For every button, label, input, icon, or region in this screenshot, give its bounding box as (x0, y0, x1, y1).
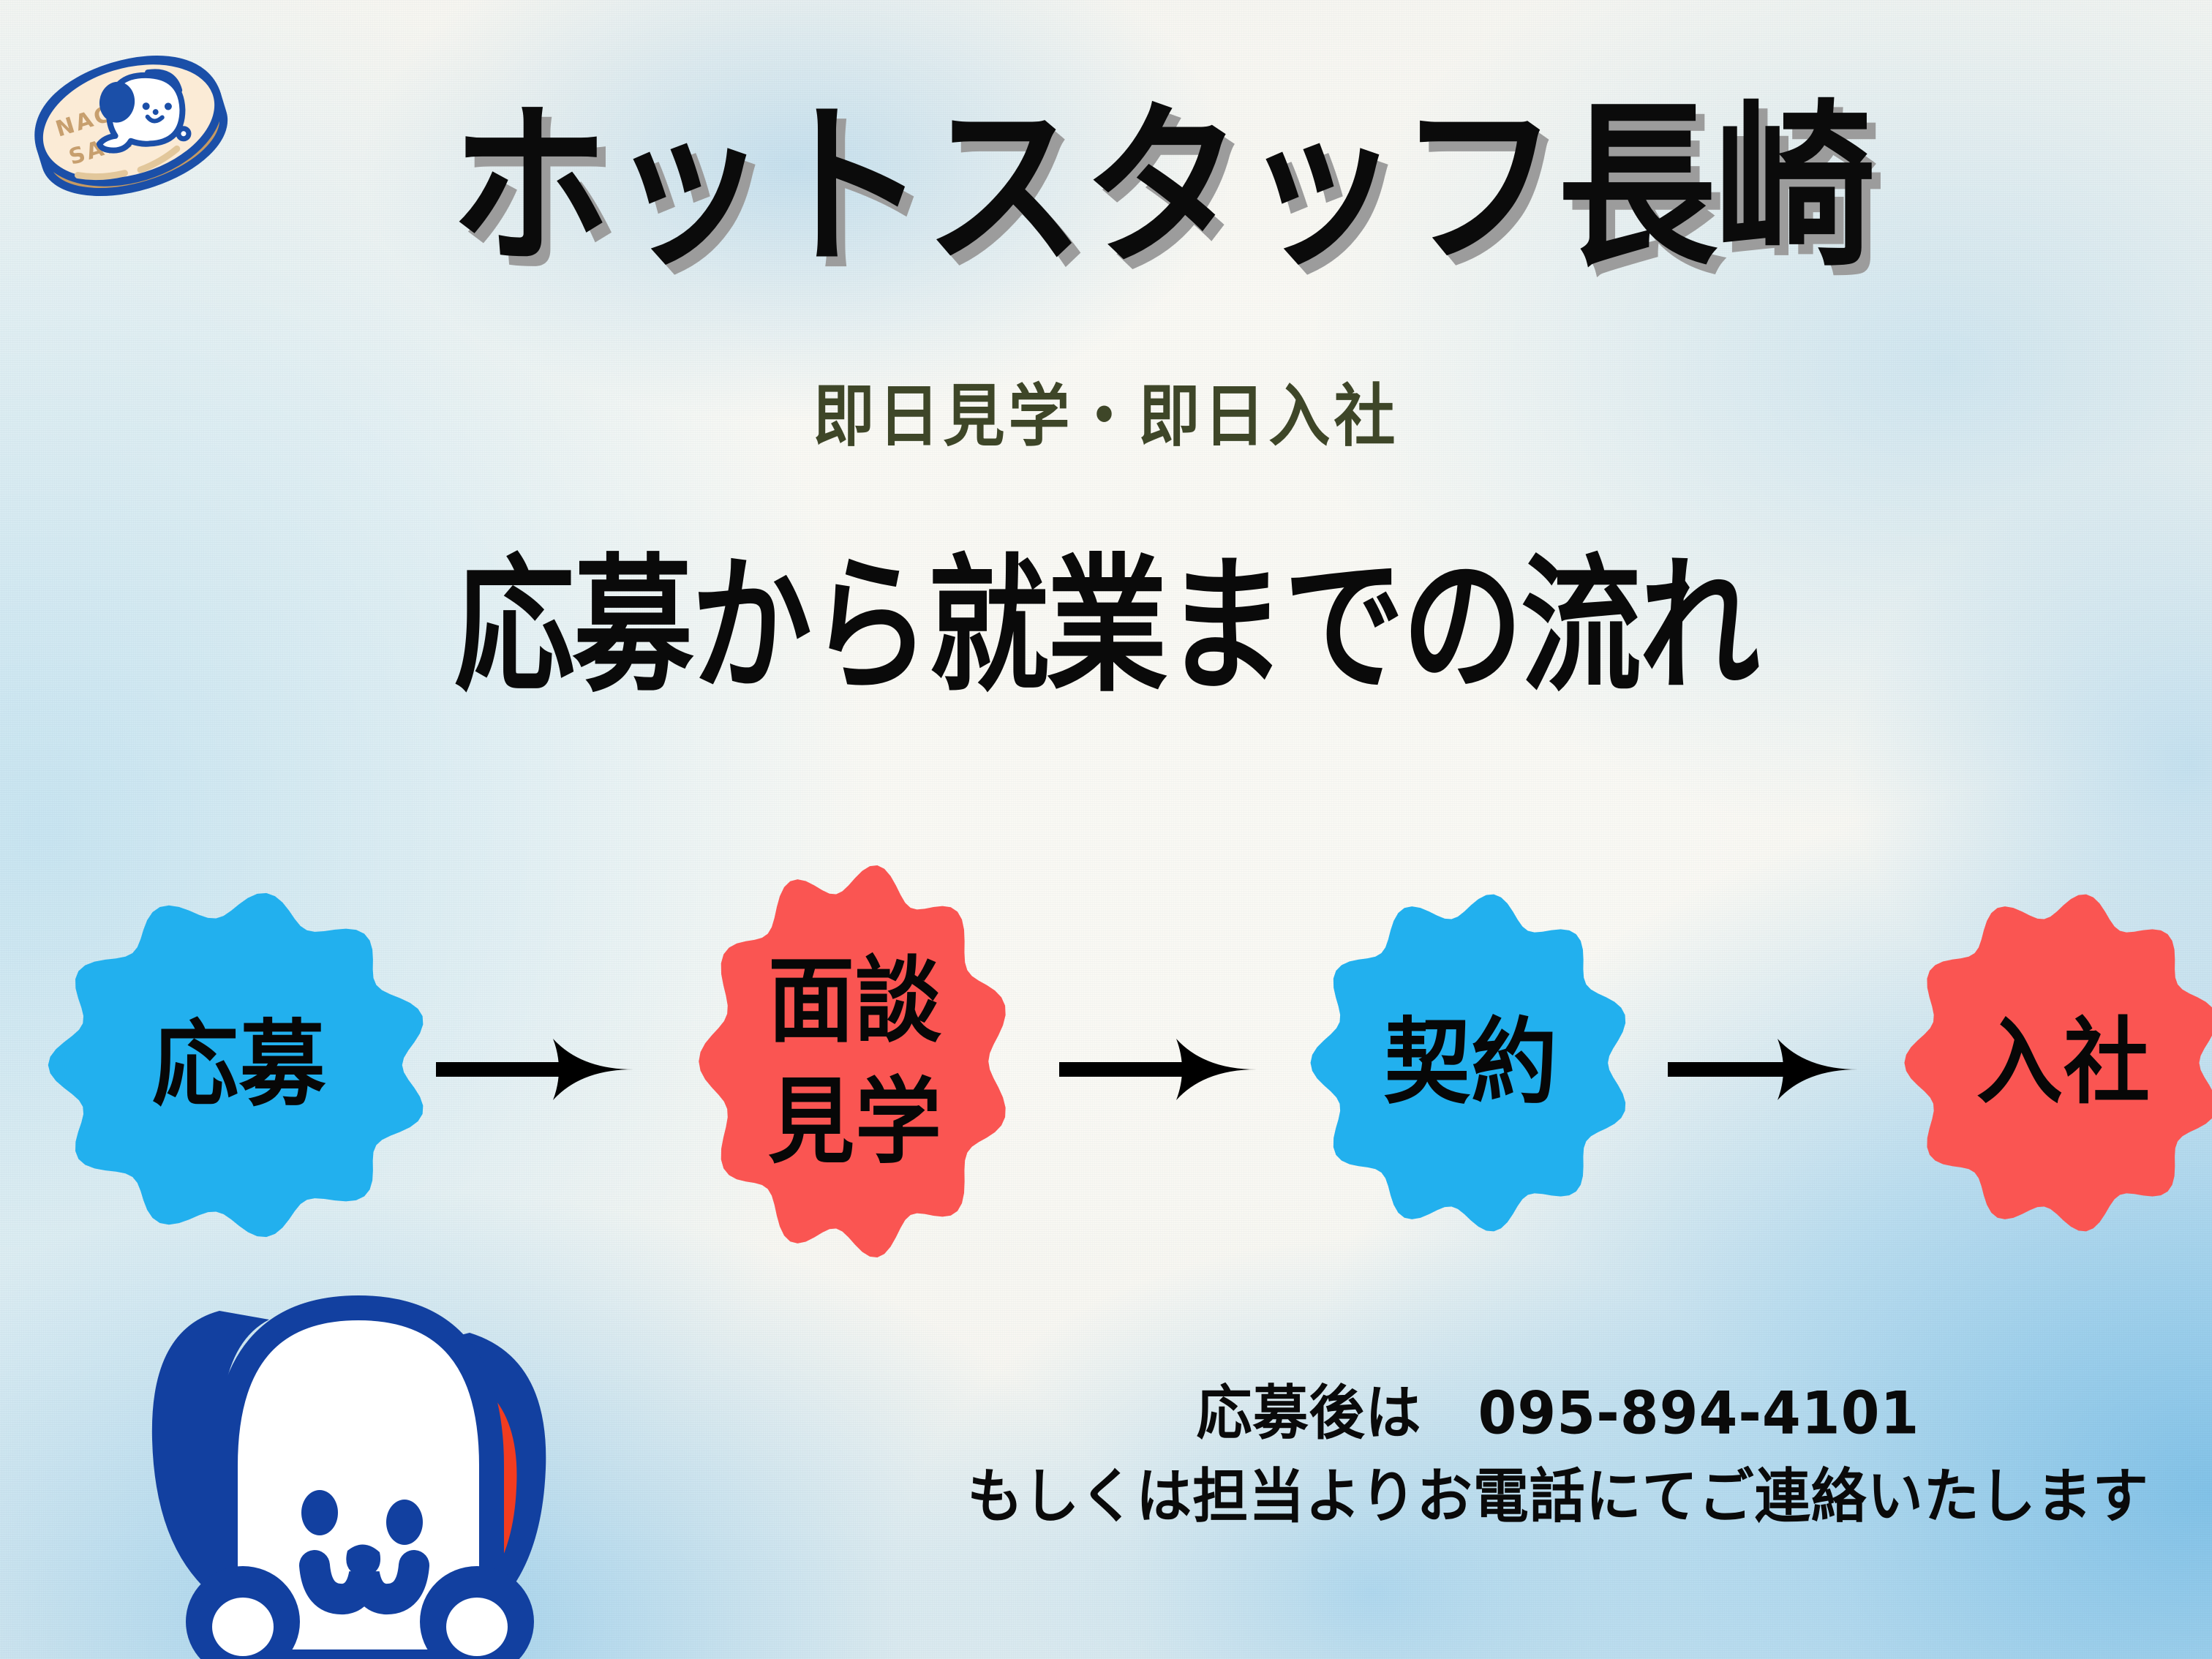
flow-step-label: 応募 (152, 1010, 326, 1120)
flow-arrow-icon (1059, 1026, 1264, 1113)
poster-canvas: NAGA SAKI ホットスタッフ長崎 (0, 0, 2212, 1659)
mascot-eye-left (301, 1490, 338, 1535)
flow-step-badge-interview[interactable]: 面談 見学 (691, 853, 1020, 1270)
flow-arrow-icon (1668, 1026, 1865, 1113)
section-heading: 応募から就業までの流れ (0, 553, 2212, 700)
flow-arrow-icon (436, 1026, 641, 1113)
contact-block: 応募後は 095-894-4101 もしくは担当よりお電話にてご連絡いたします (936, 1382, 2180, 1527)
contact-note-line: もしくは担当よりお電話にてご連絡いたします (936, 1464, 2180, 1529)
flow-step-badge-join[interactable]: 入社 (1896, 884, 2212, 1242)
flow-step-badge-apply[interactable]: 応募 (38, 882, 440, 1248)
company-title: ホットスタッフ長崎 (338, 99, 1873, 276)
flow-step-badge-contract[interactable]: 契約 (1302, 884, 1640, 1242)
contact-phone-line[interactable]: 応募後は 095-894-4101 (936, 1380, 2180, 1445)
flow-step-label: 入社 (1976, 1008, 2151, 1118)
flow-step-label: 契約 (1384, 1008, 1558, 1118)
company-subtitle: 即日見学・即日入社 (0, 383, 2212, 450)
mascot-eye-right (386, 1500, 423, 1545)
flow-diagram: 応募 面談 見学 契約 (0, 863, 2212, 1273)
title-container: ホットスタッフ長崎 (0, 110, 2212, 266)
flow-step-label: 面談 見学 (768, 940, 942, 1182)
mascot-illustration (132, 1223, 585, 1659)
